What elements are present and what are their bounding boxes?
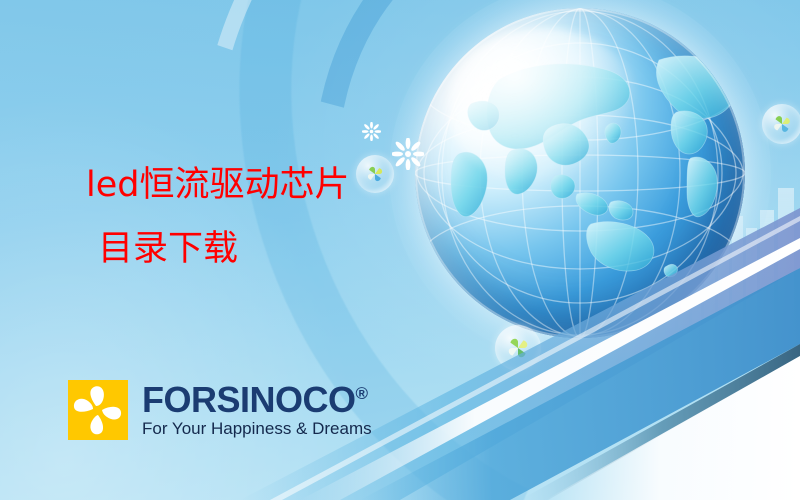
logo-wordmark: FORSINOCO® For Your Happiness & Dreams — [142, 382, 372, 439]
headline-line-2: 目录下载 — [98, 232, 349, 267]
logo-name-text: FORSINOCO — [142, 379, 356, 420]
logo-tagline: For Your Happiness & Dreams — [142, 420, 372, 439]
logo-company-name: FORSINOCO® — [142, 382, 372, 418]
headline-text: led恒流驱动芯片 目录下载 — [86, 168, 349, 267]
registered-trademark-symbol: ® — [356, 384, 368, 403]
promotional-banner: led恒流驱动芯片 目录下载 FORSINOCO® For Your Happi… — [0, 0, 800, 500]
logo-mark-square — [68, 380, 128, 440]
four-petal-pinwheel-icon — [68, 380, 128, 440]
company-logo[interactable]: FORSINOCO® For Your Happiness & Dreams — [68, 380, 372, 440]
headline-line-1: led恒流驱动芯片 — [86, 165, 349, 205]
